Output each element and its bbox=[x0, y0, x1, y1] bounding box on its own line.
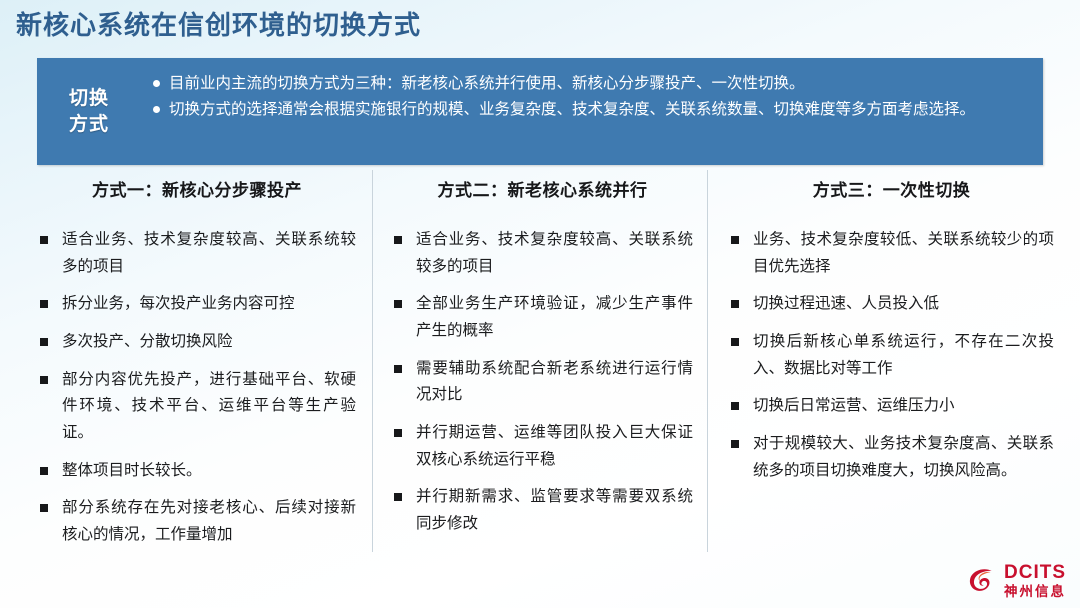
list-item: 切换后新核心单系统运行，不存在二次投入、数据比对等工作 bbox=[729, 329, 1054, 382]
list-item-text: 全部业务生产环境验证，减少生产事件产生的概率 bbox=[416, 295, 693, 339]
list-item-text: 切换后新核心单系统运行，不存在二次投入、数据比对等工作 bbox=[753, 333, 1054, 377]
list-item-text: 多次投产、分散切换风险 bbox=[62, 333, 233, 350]
bullet-dot-icon bbox=[153, 80, 160, 87]
list-item: 切换后日常运营、运维压力小 bbox=[729, 393, 1054, 420]
panel-bullet-text: 目前业内主流的切换方式为三种：新老核心系统并行使用、新核心分步骤投产、一次性切换… bbox=[169, 71, 1027, 96]
panel-label-line1: 切换 bbox=[69, 86, 109, 111]
list-item: 并行期新需求、监管要求等需要双系统同步修改 bbox=[392, 484, 693, 537]
column-heading: 方式二：新老核心系统并行 bbox=[392, 176, 693, 201]
list-item: 部分内容优先投产，进行基础平台、软硬件环境、技术平台、运维平台等生产验证。 bbox=[38, 367, 356, 447]
bullet-square-icon bbox=[731, 402, 739, 410]
panel-bullet-item: 目前业内主流的切换方式为三种：新老核心系统并行使用、新核心分步骤投产、一次性切换… bbox=[153, 71, 1027, 96]
switching-method-panel: 切换 方式 目前业内主流的切换方式为三种：新老核心系统并行使用、新核心分步骤投产… bbox=[37, 58, 1043, 165]
list-item-text: 对于规模较大、业务技术复杂度高、关联系统多的项目切换难度大，切换风险高。 bbox=[753, 435, 1054, 479]
list-item-text: 适合业务、技术复杂度较高、关联系统较多的项目 bbox=[416, 231, 693, 275]
list-item-text: 切换过程迅速、人员投入低 bbox=[753, 295, 939, 312]
column-method-one: 方式一：新核心分步骤投产 适合业务、技术复杂度较高、关联系统较多的项目 拆分业务… bbox=[16, 176, 372, 566]
column-bullet-list: 适合业务、技术复杂度较高、关联系统较多的项目 全部业务生产环境验证，减少生产事件… bbox=[392, 227, 693, 538]
logo-name-en: DCITS bbox=[1004, 563, 1066, 582]
list-item-text: 整体项目时长较长。 bbox=[62, 462, 202, 479]
panel-label: 切换 方式 bbox=[37, 58, 141, 165]
list-item-text: 并行期新需求、监管要求等需要双系统同步修改 bbox=[416, 488, 693, 532]
list-item-text: 适合业务、技术复杂度较高、关联系统较多的项目 bbox=[62, 231, 356, 275]
list-item-text: 部分内容优先投产，进行基础平台、软硬件环境、技术平台、运维平台等生产验证。 bbox=[62, 371, 356, 441]
list-item: 全部业务生产环境验证，减少生产事件产生的概率 bbox=[392, 291, 693, 344]
list-item-text: 拆分业务，每次投产业务内容可控 bbox=[62, 295, 295, 312]
list-item: 适合业务、技术复杂度较高、关联系统较多的项目 bbox=[38, 227, 356, 280]
logo-text: DCITS 神州信息 bbox=[1004, 563, 1066, 599]
column-bullet-list: 业务、技术复杂度较低、关联系统较少的项目优先选择 切换过程迅速、人员投入低 切换… bbox=[729, 227, 1054, 484]
bullet-square-icon bbox=[731, 440, 739, 448]
bullet-square-icon bbox=[40, 338, 48, 346]
slide-root: 新核心系统在信创环境的切换方式 切换 方式 目前业内主流的切换方式为三种：新老核… bbox=[0, 0, 1080, 608]
list-item-text: 并行期运营、运维等团队投入巨大保证双核心系统运行平稳 bbox=[416, 424, 693, 468]
list-item-text: 部分系统存在先对接老核心、后续对接新核心的情况，工作量增加 bbox=[62, 499, 356, 543]
bullet-square-icon bbox=[731, 338, 739, 346]
logo-name-cn: 神州信息 bbox=[1004, 585, 1066, 599]
list-item: 切换过程迅速、人员投入低 bbox=[729, 291, 1054, 318]
bullet-square-icon bbox=[394, 365, 402, 373]
list-item: 需要辅助系统配合新老系统进行运行情况对比 bbox=[392, 356, 693, 409]
list-item-text: 切换后日常运营、运维压力小 bbox=[753, 397, 955, 414]
bullet-square-icon bbox=[394, 236, 402, 244]
bullet-square-icon bbox=[40, 376, 48, 384]
list-item: 适合业务、技术复杂度较高、关联系统较多的项目 bbox=[392, 227, 693, 280]
panel-label-line2: 方式 bbox=[69, 112, 109, 137]
company-logo: DCITS 神州信息 bbox=[965, 563, 1066, 599]
column-heading: 方式三：一次性切换 bbox=[729, 176, 1054, 201]
bullet-square-icon bbox=[394, 300, 402, 308]
list-item: 整体项目时长较长。 bbox=[38, 458, 356, 485]
list-item: 并行期运营、运维等团队投入巨大保证双核心系统运行平稳 bbox=[392, 420, 693, 473]
list-item: 多次投产、分散切换风险 bbox=[38, 329, 356, 356]
bullet-square-icon bbox=[40, 236, 48, 244]
panel-bullet-item: 切换方式的选择通常会根据实施银行的规模、业务复杂度、技术复杂度、关联系统数量、切… bbox=[153, 97, 1027, 122]
list-item: 拆分业务，每次投产业务内容可控 bbox=[38, 291, 356, 318]
bullet-square-icon bbox=[394, 429, 402, 437]
bullet-square-icon bbox=[731, 300, 739, 308]
column-method-two: 方式二：新老核心系统并行 适合业务、技术复杂度较高、关联系统较多的项目 全部业务… bbox=[372, 176, 707, 566]
bullet-square-icon bbox=[40, 467, 48, 475]
bullet-square-icon bbox=[40, 504, 48, 512]
column-method-three: 方式三：一次性切换 业务、技术复杂度较低、关联系统较少的项目优先选择 切换过程迅… bbox=[707, 176, 1064, 566]
list-item-text: 需要辅助系统配合新老系统进行运行情况对比 bbox=[416, 360, 693, 404]
dcits-swirl-icon bbox=[965, 563, 999, 597]
method-columns: 方式一：新核心分步骤投产 适合业务、技术复杂度较高、关联系统较多的项目 拆分业务… bbox=[16, 176, 1064, 566]
list-item: 部分系统存在先对接老核心、后续对接新核心的情况，工作量增加 bbox=[38, 495, 356, 548]
panel-bullet-text: 切换方式的选择通常会根据实施银行的规模、业务复杂度、技术复杂度、关联系统数量、切… bbox=[169, 97, 1027, 122]
list-item-text: 业务、技术复杂度较低、关联系统较少的项目优先选择 bbox=[753, 231, 1054, 275]
panel-body: 目前业内主流的切换方式为三种：新老核心系统并行使用、新核心分步骤投产、一次性切换… bbox=[141, 58, 1043, 165]
bullet-square-icon bbox=[40, 300, 48, 308]
list-item: 对于规模较大、业务技术复杂度高、关联系统多的项目切换难度大，切换风险高。 bbox=[729, 431, 1054, 484]
list-item: 业务、技术复杂度较低、关联系统较少的项目优先选择 bbox=[729, 227, 1054, 280]
bullet-square-icon bbox=[394, 493, 402, 501]
column-bullet-list: 适合业务、技术复杂度较高、关联系统较多的项目 拆分业务，每次投产业务内容可控 多… bbox=[38, 227, 356, 549]
bullet-dot-icon bbox=[153, 106, 160, 113]
bullet-square-icon bbox=[731, 236, 739, 244]
page-title: 新核心系统在信创环境的切换方式 bbox=[16, 9, 421, 42]
column-heading: 方式一：新核心分步骤投产 bbox=[38, 176, 356, 201]
